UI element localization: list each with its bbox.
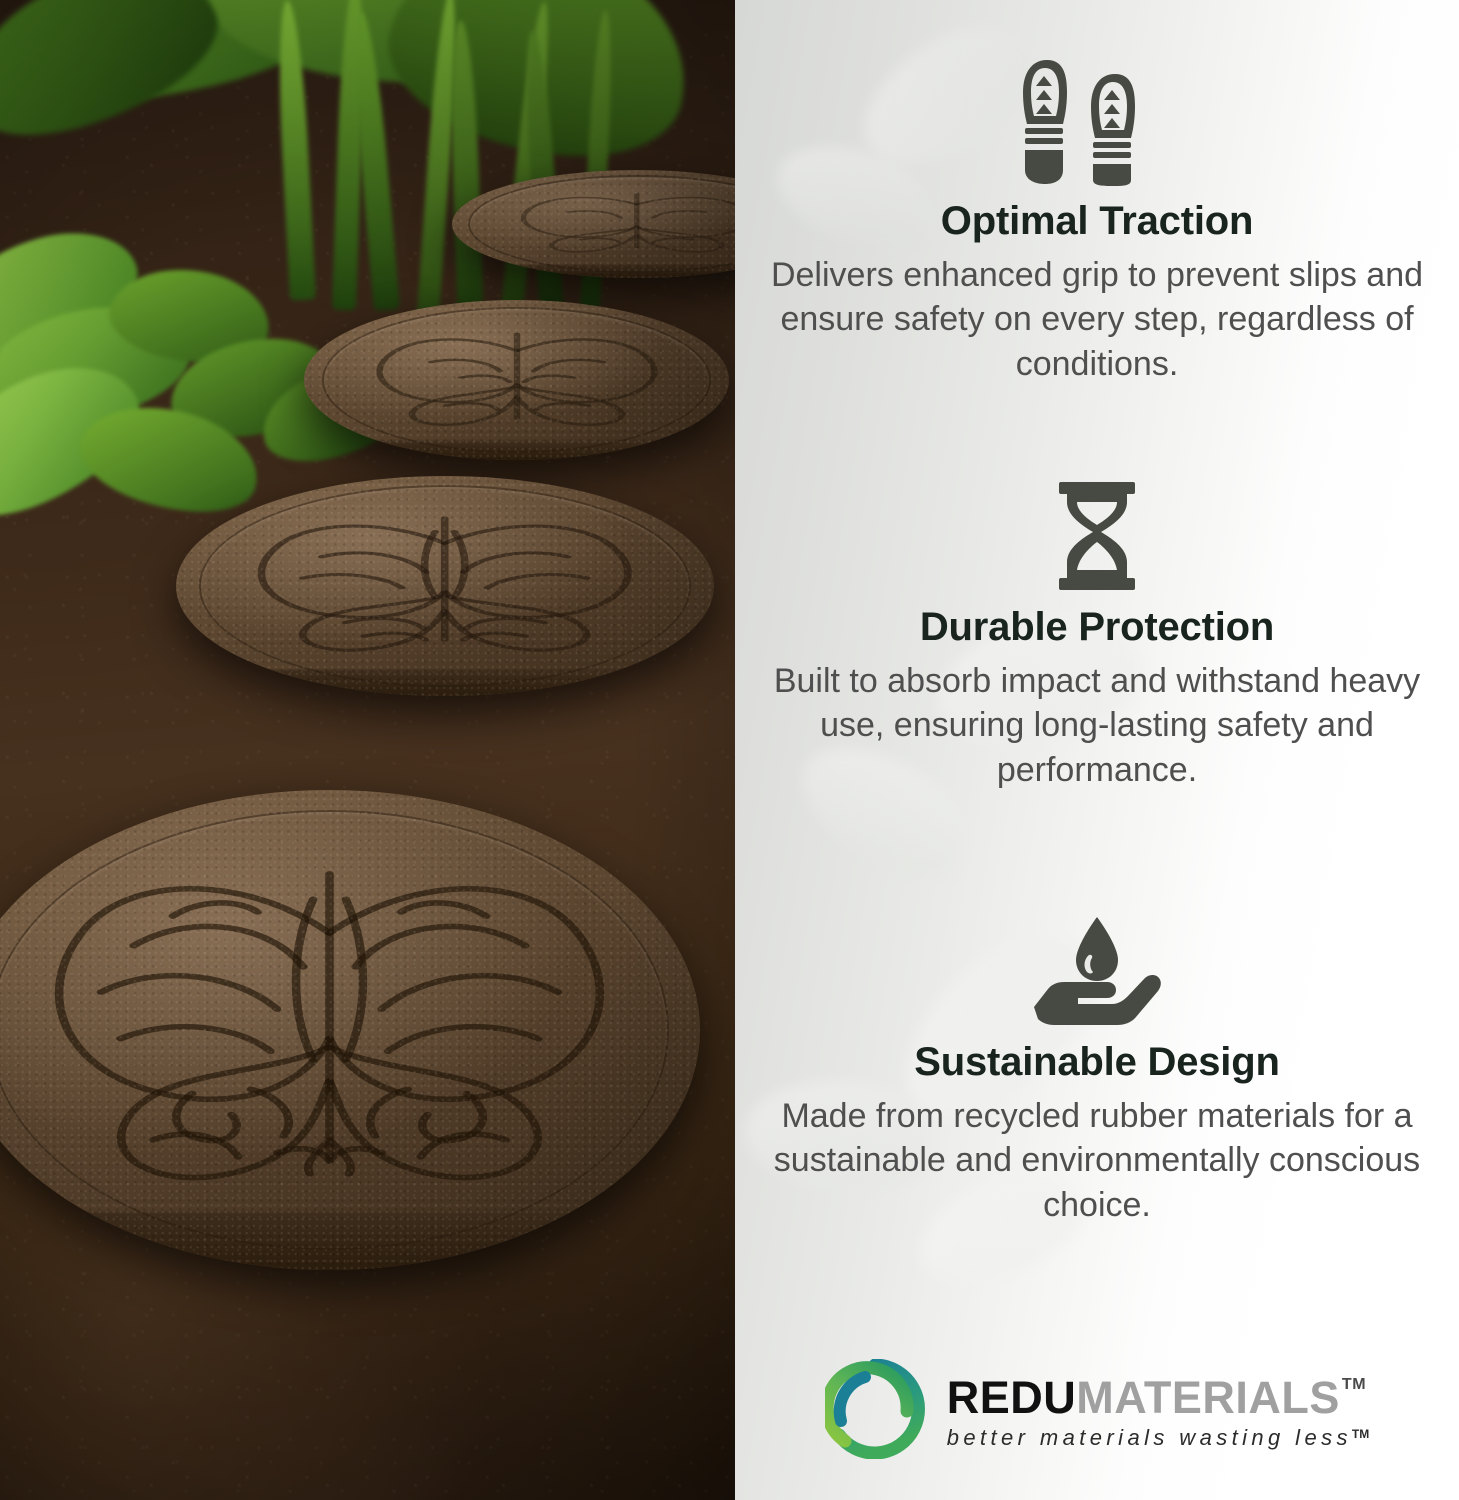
feature-item-sustainable-design: Sustainable Design Made from recycled ru… xyxy=(769,915,1425,1227)
brand-text: REDUMATERIALSTM better materials wasting… xyxy=(947,1375,1370,1449)
product-feature-infographic: Optimal Traction Delivers enhanced grip … xyxy=(0,0,1459,1500)
trademark-symbol: TM xyxy=(1342,1377,1366,1393)
feature-content-panel: Optimal Traction Delivers enhanced grip … xyxy=(735,0,1459,1500)
stone-rim xyxy=(468,175,735,274)
butterfly-pattern-icon xyxy=(3,819,656,1241)
stepping-stone-mid-near xyxy=(176,476,714,696)
stone-rim xyxy=(322,307,711,454)
feature-description: Made from recycled rubber materials for … xyxy=(769,1094,1425,1227)
wordmark-primary: REDU xyxy=(947,1375,1077,1420)
butterfly-pattern-icon xyxy=(474,176,735,271)
brand-tagline: better materials wasting lessTM xyxy=(947,1427,1370,1449)
stone-rim xyxy=(199,485,692,687)
feature-title: Durable Protection xyxy=(769,606,1425,649)
brand-logo: REDUMATERIALSTM better materials wasting… xyxy=(735,1359,1459,1464)
wordmark-secondary: MATERIALS xyxy=(1076,1375,1340,1420)
stepping-stone-mid-far xyxy=(304,300,729,460)
feature-list: Optimal Traction Delivers enhanced grip … xyxy=(735,0,1459,1500)
hourglass-icon xyxy=(769,480,1425,592)
wordmark: REDUMATERIALSTM xyxy=(947,1375,1366,1420)
tagline-trademark-symbol: TM xyxy=(1352,1428,1369,1440)
feature-description: Delivers enhanced grip to prevent slips … xyxy=(769,253,1425,386)
feature-title: Sustainable Design xyxy=(769,1041,1425,1084)
boot-footprints-icon xyxy=(769,54,1425,186)
stepping-stone-far xyxy=(452,170,735,278)
butterfly-pattern-icon xyxy=(208,489,681,683)
feature-item-optimal-traction: Optimal Traction Delivers enhanced grip … xyxy=(769,54,1425,386)
stepping-stone-foreground xyxy=(0,790,700,1270)
product-photo-panel xyxy=(0,0,735,1500)
feature-item-durable-protection: Durable Protection Built to absorb impac… xyxy=(769,480,1425,792)
feature-description: Built to absorb impact and withstand hea… xyxy=(769,659,1425,792)
butterfly-pattern-icon xyxy=(330,310,704,451)
hand-with-water-drop-icon xyxy=(769,915,1425,1027)
feature-title: Optimal Traction xyxy=(769,200,1425,243)
stone-rim xyxy=(0,810,669,1250)
tagline-text: better materials wasting less xyxy=(947,1427,1352,1449)
circular-swirl-logo-icon xyxy=(825,1359,925,1464)
